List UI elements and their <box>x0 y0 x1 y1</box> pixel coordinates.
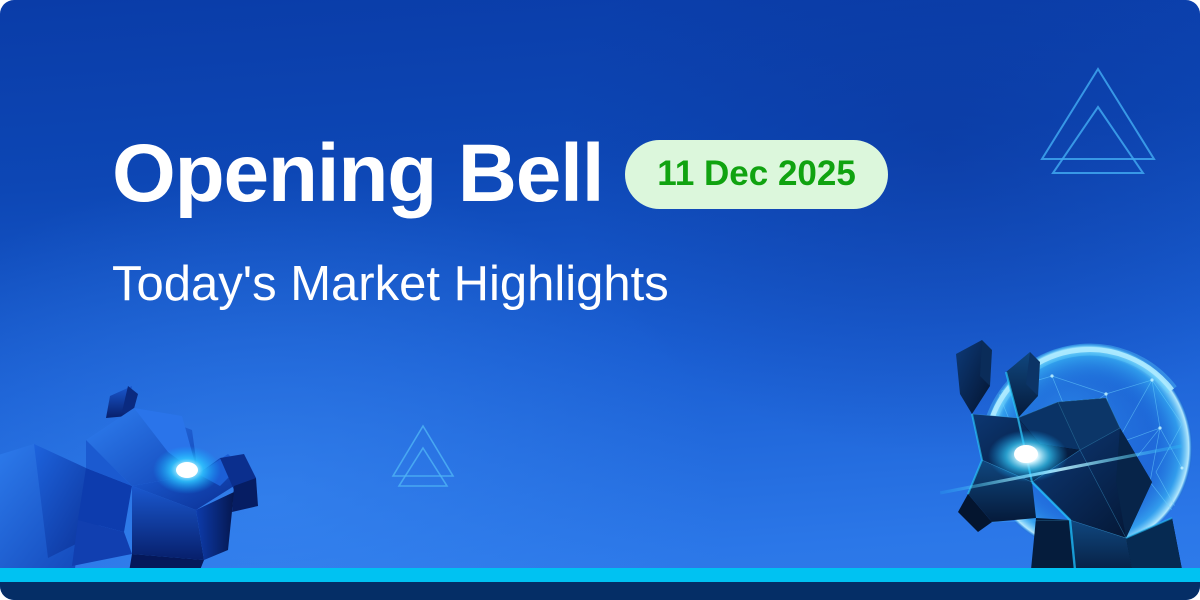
triangle-motif-top-right-icon <box>1038 55 1158 175</box>
headline-row: Opening Bell 11 Dec 2025 <box>112 133 888 215</box>
date-badge: 11 Dec 2025 <box>625 140 888 209</box>
page-subtitle: Today's Market Highlights <box>112 256 669 314</box>
triangle-motif-center-icon <box>390 420 456 488</box>
page-title: Opening Bell <box>112 133 603 215</box>
opening-bell-banner: Opening Bell 11 Dec 2025 Today's Market … <box>0 0 1200 600</box>
accent-bar-navy <box>0 582 1200 600</box>
accent-bar-cyan <box>0 568 1200 582</box>
bear-illustration <box>0 382 272 582</box>
background-glow-lower <box>0 180 720 600</box>
bull-illustration <box>920 332 1200 582</box>
background-glow-upper <box>560 0 1200 460</box>
